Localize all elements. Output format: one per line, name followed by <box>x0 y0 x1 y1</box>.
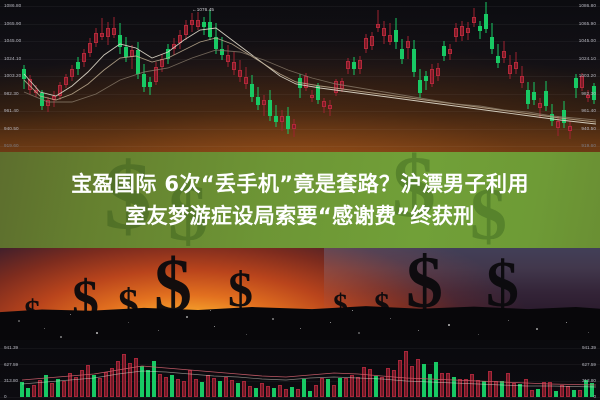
volume-axis-tick-right: 313.80 <box>582 378 596 383</box>
light-speck <box>448 324 450 326</box>
volume-axis-tick-right: 0 <box>593 394 596 399</box>
ma-line-fast <box>24 28 596 124</box>
price-axis-tick-right: 982.30 <box>581 91 596 96</box>
headline-line-1: 宝盈国际 6次“丢手机”竟是套路？沪漂男子利用 <box>71 172 529 196</box>
headline-text-block: 宝盈国际 6次“丢手机”竟是套路？沪漂男子利用 室友梦游症设局索要“感谢费”终获… <box>0 152 600 248</box>
volume-axis-tick-left: 627.59 <box>4 362 18 367</box>
volume-axis-tick-left: 941.39 <box>4 345 18 350</box>
dollar-sign-icon: $ <box>228 264 253 314</box>
price-axis-tick-right: 1003.20 <box>579 73 596 78</box>
price-axis-tick-right: 940.50 <box>581 126 596 131</box>
light-speck <box>536 328 538 330</box>
price-axis-tick-right: 919.60 <box>581 143 596 148</box>
price-axis-tick-left: 982.30 <box>4 91 19 96</box>
light-speck <box>186 316 188 318</box>
price-axis-tick-left: 961.40 <box>4 108 19 113</box>
headline-line-2: 室友梦游症设局索要“感谢费”终获刑 <box>125 204 474 228</box>
light-speck <box>18 320 20 322</box>
price-axis-tick-left: 1065.90 <box>4 21 21 26</box>
price-axis-tick-left: 1003.20 <box>4 73 21 78</box>
price-axis-tick-right: 1086.80 <box>579 3 596 8</box>
light-speck <box>358 332 360 334</box>
moving-average-lines <box>0 0 600 152</box>
price-axis-tick-right: 961.40 <box>581 108 596 113</box>
volume-ma-line-2 <box>22 371 596 387</box>
price-axis-tick-right: 1065.90 <box>579 21 596 26</box>
price-axis-tick-left: 940.50 <box>4 126 19 131</box>
headline-band: $ $ $ $ 宝盈国际 6次“丢手机”竟是套路？沪漂男子利用 室友梦游症设局索… <box>0 152 600 248</box>
price-axis-tick-left: 1024.10 <box>4 56 21 61</box>
price-axis-tick-left: 1045.00 <box>4 38 21 43</box>
volume-axis-tick-right: 941.39 <box>582 345 596 350</box>
price-axis-tick-right: 1045.00 <box>579 38 596 43</box>
light-speck <box>272 318 274 320</box>
price-axis-tick-left: 919.60 <box>4 143 19 148</box>
price-annotation: ←1076.45 <box>192 7 214 12</box>
volume-chart-panel: 941.39627.59313.800 941.39627.59313.800 <box>0 340 600 400</box>
volume-axis-tick-left: 313.80 <box>4 378 18 383</box>
light-speck <box>60 336 62 338</box>
price-axis-tick-right: 1024.10 <box>579 56 596 61</box>
price-axis-tick-left: 1086.80 <box>4 3 21 8</box>
volume-axis-tick-right: 627.59 <box>582 362 596 367</box>
sunset-photo-band: $$$$$$$$$ 视觉中国 ID: VCG211284289394 500px… <box>0 248 600 340</box>
light-speck <box>96 332 98 334</box>
price-chart-panel: ←1076.45 1086.801065.901045.001024.10100… <box>0 0 600 152</box>
volume-axis-tick-left: 0 <box>4 394 7 399</box>
ma-line-slow <box>24 50 596 120</box>
volume-average-line <box>0 340 600 400</box>
news-thumbnail-image: ←1076.45 1086.801065.901045.001024.10100… <box>0 0 600 400</box>
